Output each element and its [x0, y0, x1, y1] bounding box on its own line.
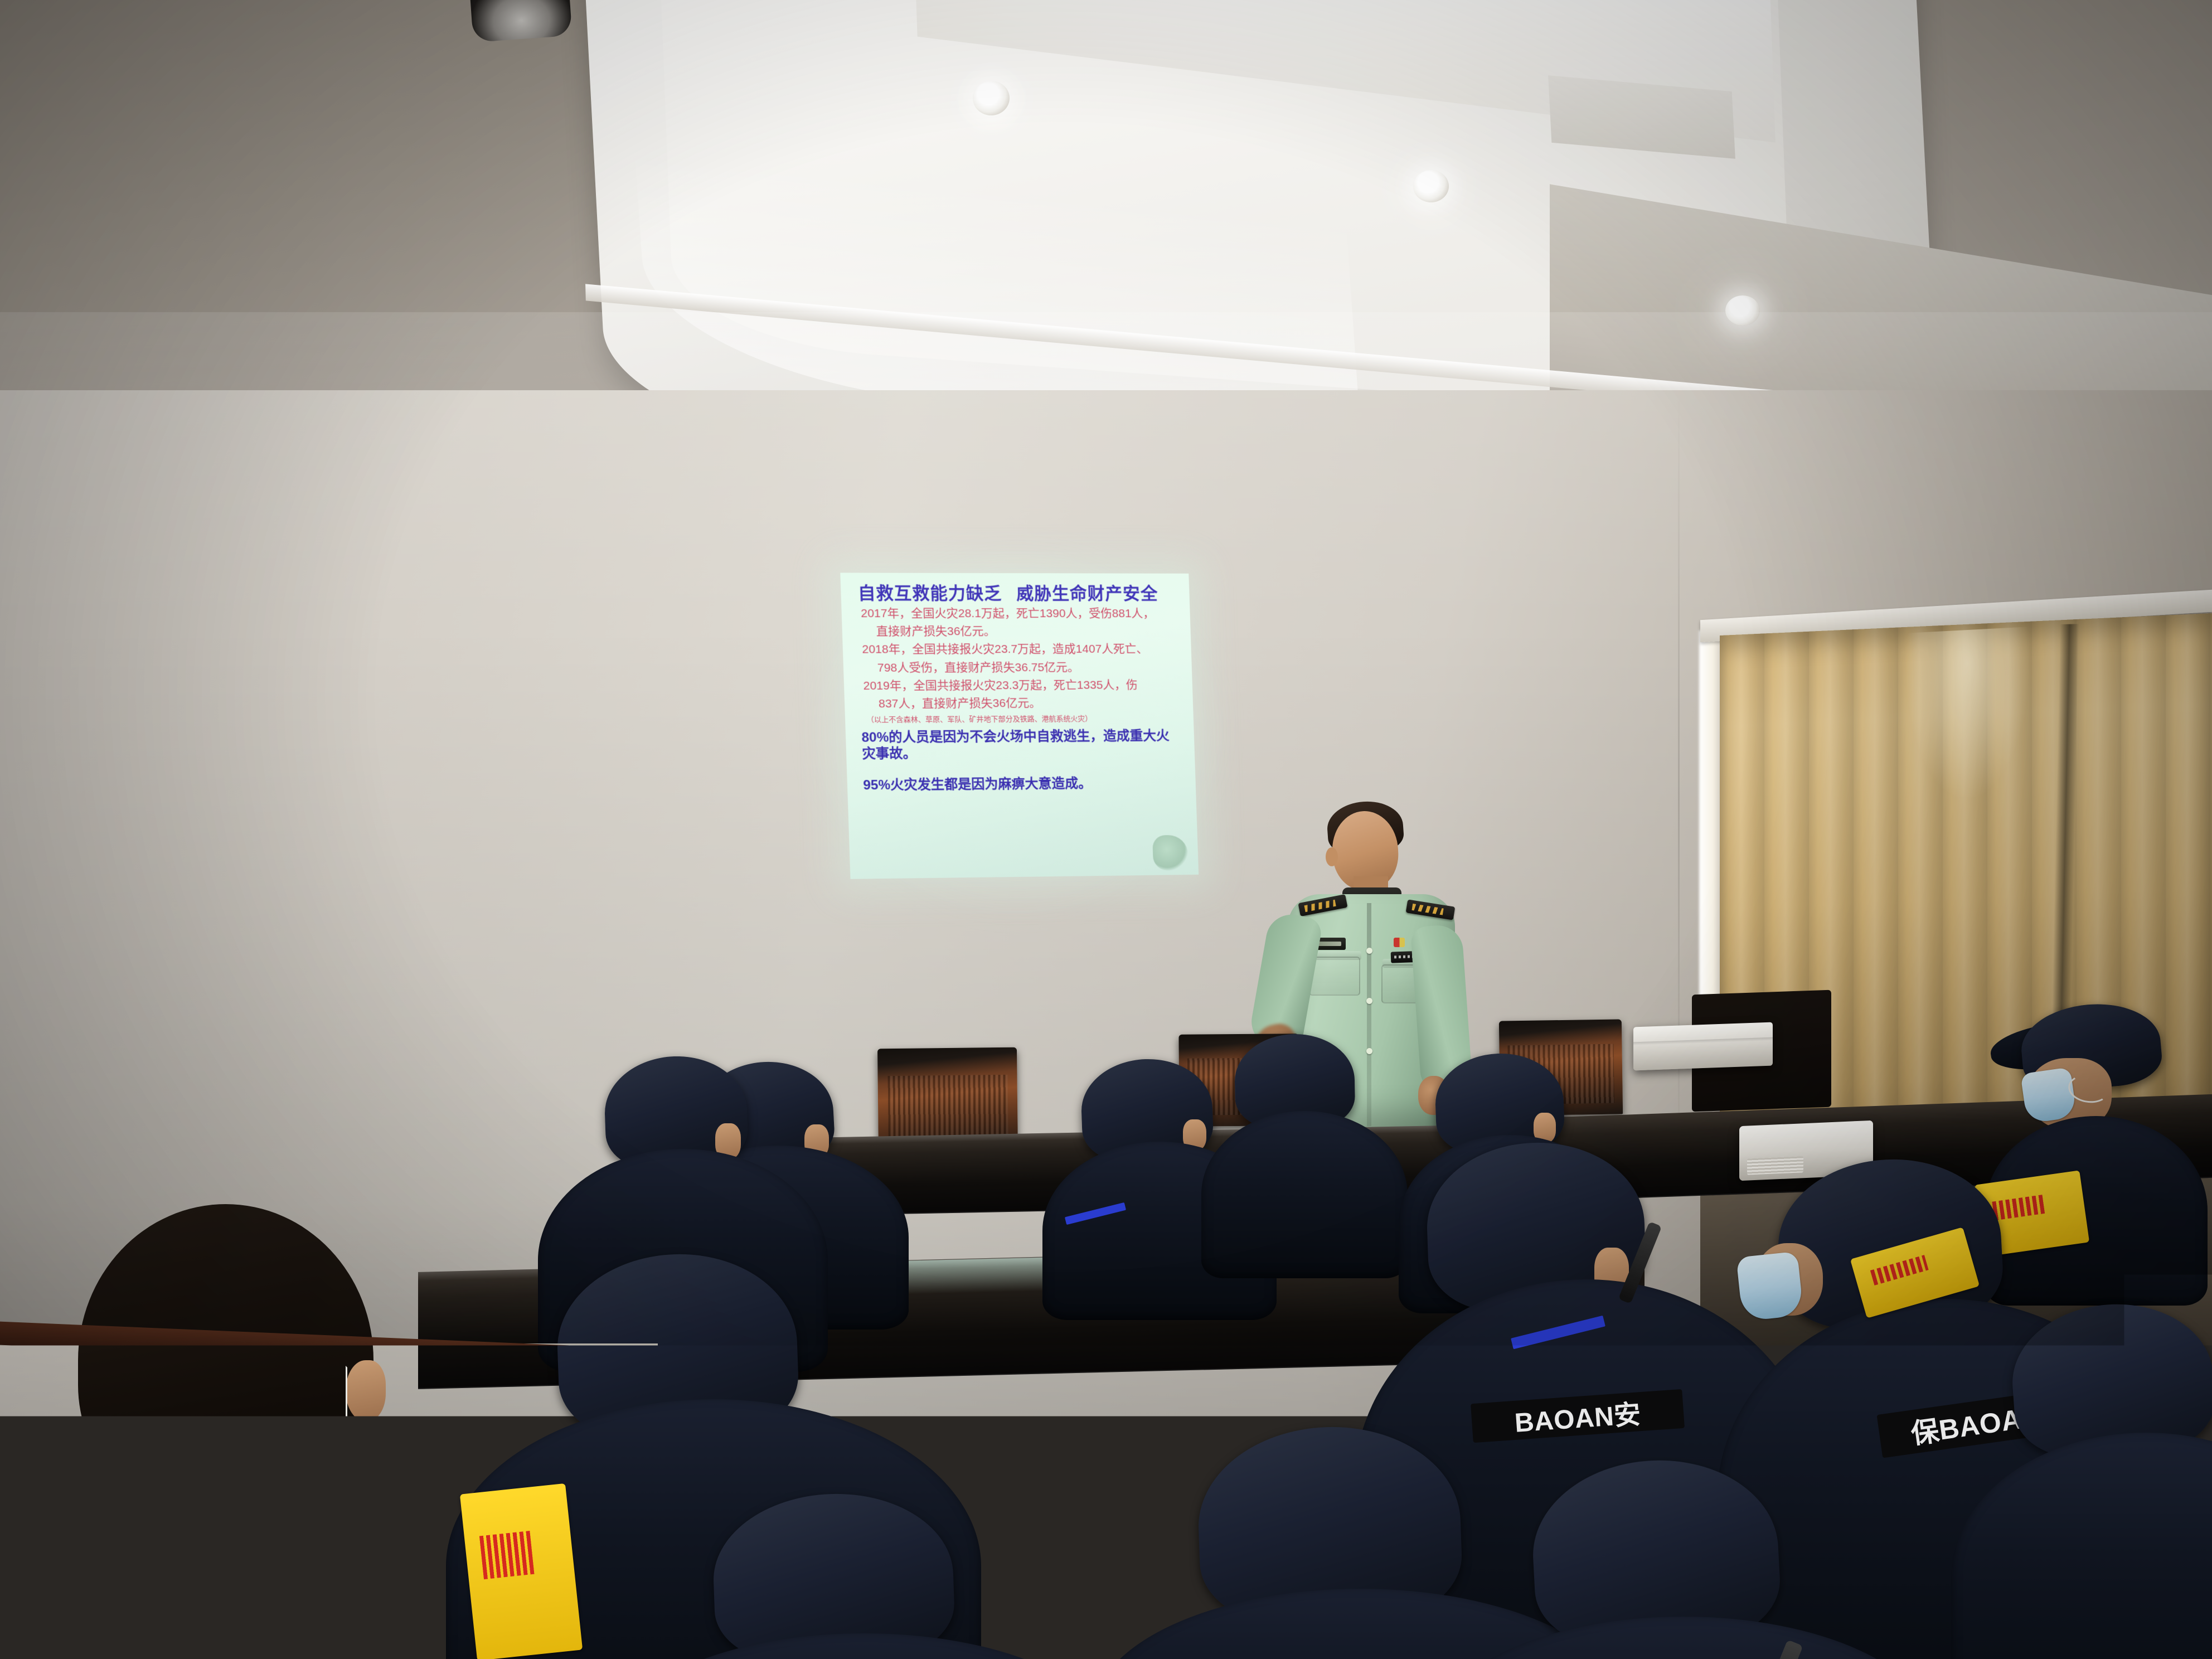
slide-highlight-80: 80%的人员是因为不会火场中自救逃生，造成重大火灾事故。: [861, 728, 1183, 763]
presenter-ear: [1326, 847, 1338, 866]
conference-room-photo: 自救互救能力缺乏威胁生命财产安全 2017年，全国火灾28.1万起，死亡1390…: [0, 0, 2212, 1659]
curtain-highlight: [1907, 627, 2029, 801]
stat-row-2017-line2: 直接财产损失36亿元。: [876, 624, 1178, 639]
presenter-chest-pocket-left: [1309, 957, 1360, 996]
projection-screen: 自救互救能力缺乏威胁生命财产安全 2017年，全国火灾28.1万起，死亡1390…: [840, 573, 1199, 879]
slide-title-right: 威胁生命财产安全: [1016, 584, 1158, 603]
downlight-icon: [1413, 170, 1449, 202]
slide-stats: 2017年，全国火灾28.1万起，死亡1390人，受伤881人， 直接财产损失3…: [861, 606, 1181, 712]
slide-title-left: 自救互救能力缺乏: [857, 584, 1002, 603]
ceiling-speaker-icon: [469, 0, 572, 42]
slide-highlight-95: 95%火灾发生都是因为麻痹大意造成。: [863, 774, 1184, 793]
shirt-button: [1366, 1048, 1372, 1054]
stat-row-2019-line1: 2019年，全国共接报火灾23.3万起，死亡1335人，伤: [863, 677, 1181, 693]
slide-watermark-logo: [1152, 835, 1189, 871]
presenter-flag-pin-icon: [1394, 938, 1405, 947]
shirt-button: [1366, 948, 1372, 954]
downlight-icon: [973, 81, 1010, 115]
stat-row-2018-line1: 2018年，全国共接报火灾23.7万起，造成1407人死亡、: [862, 642, 1180, 657]
stat-row-2019-line2: 837人，直接财产损失36亿元。: [879, 695, 1181, 712]
foreground-shadow: [0, 1427, 2212, 1659]
presenter-shirt-placket: [1367, 903, 1371, 1126]
guard-shoulders: [1201, 1111, 1408, 1278]
wall-seam: [1678, 390, 1680, 1199]
stat-row-2018-line2: 798人受伤，直接财产损失36.75亿元。: [877, 659, 1180, 676]
slide-footnote: （以上不含森林、草原、军队、矿井地下部分及铁路、港航系统火灾）: [866, 714, 1181, 724]
slide-title: 自救互救能力缺乏威胁生命财产安全: [857, 584, 1177, 604]
shirt-button: [1366, 998, 1372, 1004]
equipment-case: [1633, 1022, 1773, 1071]
stat-row-2017-line1: 2017年，全国火灾28.1万起，死亡1390人，受伤881人，: [861, 606, 1178, 621]
